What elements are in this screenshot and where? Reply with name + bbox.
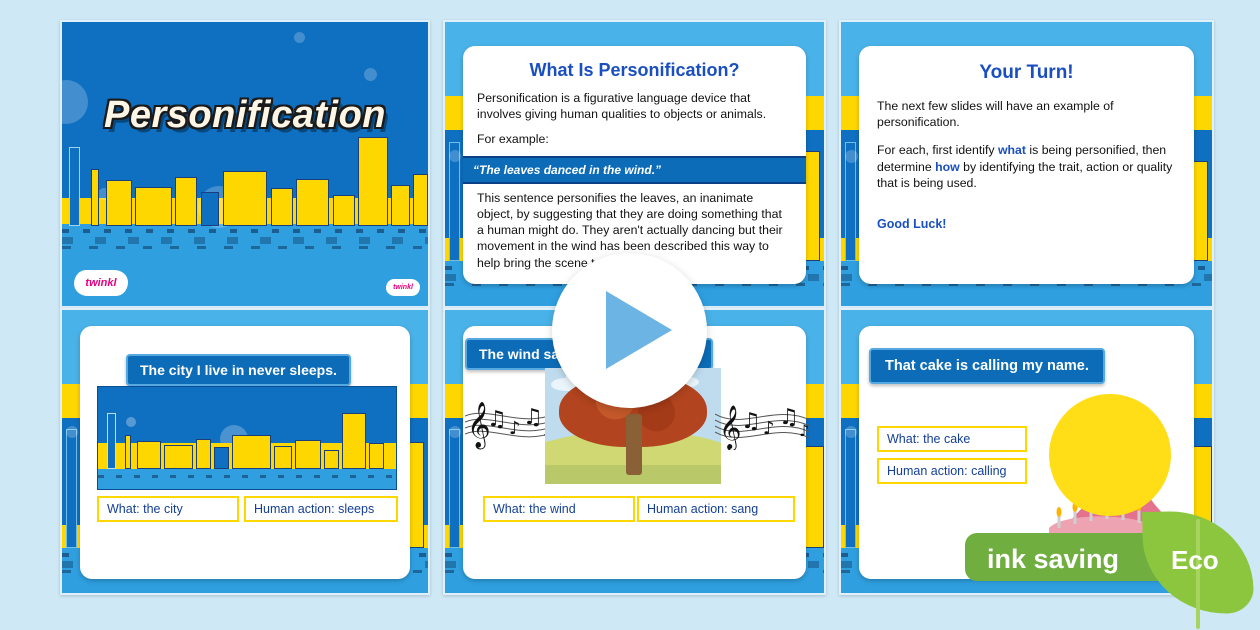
paragraph-2-part-a: For each, first identify: [877, 143, 998, 157]
decorative-bubble: [364, 68, 377, 81]
slide-paragraph-2: For each, first identify what is being p…: [877, 142, 1176, 191]
svg-text:♪: ♪: [763, 418, 775, 439]
answer-action-box: Human action: sleeps: [244, 496, 398, 522]
slide-heading: What Is Personification?: [477, 60, 792, 81]
decorative-bubble: [294, 32, 305, 43]
keyword-what: what: [998, 143, 1026, 157]
answer-action-box: Human action: sang: [637, 496, 795, 522]
slide-paragraph-1: The next few slides will have an example…: [877, 98, 1176, 130]
sentence-banner: That cake is calling my name.: [869, 348, 1105, 384]
decorative-bubble: [449, 150, 461, 162]
svg-text:♫: ♫: [741, 409, 761, 434]
twinkl-logo-secondary: twinkl: [386, 279, 420, 296]
eco-badge-eco-label: Eco: [1171, 545, 1219, 576]
slide-paragraph-2: For example:: [477, 131, 792, 147]
decorative-bubble: [449, 426, 461, 438]
svg-text:♪: ♪: [799, 421, 809, 440]
decorative-bubble: [845, 426, 857, 438]
slide-content-card: What Is Personification? Personification…: [463, 46, 806, 284]
ink-saving-eco-badge: ink saving Eco: [965, 527, 1260, 587]
music-staff-right-icon: 𝄞 ♫ ♪ ♫ ♪: [715, 398, 810, 450]
slide-thumbnail-city-example[interactable]: The city I live in never sleeps.: [60, 308, 430, 595]
slide-thumbnail-title[interactable]: Personification twinkl twinkl: [60, 20, 430, 308]
svg-text:♪: ♪: [509, 418, 521, 439]
svg-text:♫: ♫: [487, 407, 507, 432]
answer-action-box: Human action: calling: [877, 458, 1027, 484]
svg-text:♫: ♫: [779, 405, 799, 430]
eco-badge-label: ink saving: [987, 544, 1119, 575]
music-staff-left-icon: 𝄞 ♫ ♪ ♫ ♪: [465, 398, 555, 450]
svg-text:𝄞: 𝄞: [719, 405, 741, 450]
play-triangle-icon: [606, 291, 672, 369]
answer-what-box: What: the wind: [483, 496, 635, 522]
decorative-bubble: [66, 426, 78, 438]
slide-quote-banner: “The leaves danced in the wind.”: [463, 156, 806, 184]
slide-content-card: Your Turn! The next few slides will have…: [859, 46, 1194, 284]
answer-what-box: What: the cake: [877, 426, 1027, 452]
slide-paragraph-1: Personification is a figurative language…: [477, 90, 792, 122]
screenshot-stage: Personification twinkl twinkl What Is Pe…: [0, 0, 1260, 630]
city-skyline-graphic: [62, 147, 428, 227]
svg-text:♫: ♫: [523, 405, 543, 430]
sentence-banner: The city I live in never sleeps.: [126, 354, 351, 386]
decorative-bubble: [845, 150, 858, 163]
play-button[interactable]: [552, 253, 707, 408]
city-skyline-illustration: [97, 386, 397, 490]
twinkl-logo: twinkl: [74, 270, 128, 296]
slide-thumbnail-your-turn[interactable]: Your Turn! The next few slides will have…: [839, 20, 1214, 308]
slide-closing-text: Good Luck!: [877, 217, 1176, 231]
keyword-how: how: [935, 160, 960, 174]
slide-title: Personification: [62, 94, 428, 137]
slide-heading: Your Turn!: [877, 62, 1176, 84]
answer-what-box: What: the city: [97, 496, 239, 522]
